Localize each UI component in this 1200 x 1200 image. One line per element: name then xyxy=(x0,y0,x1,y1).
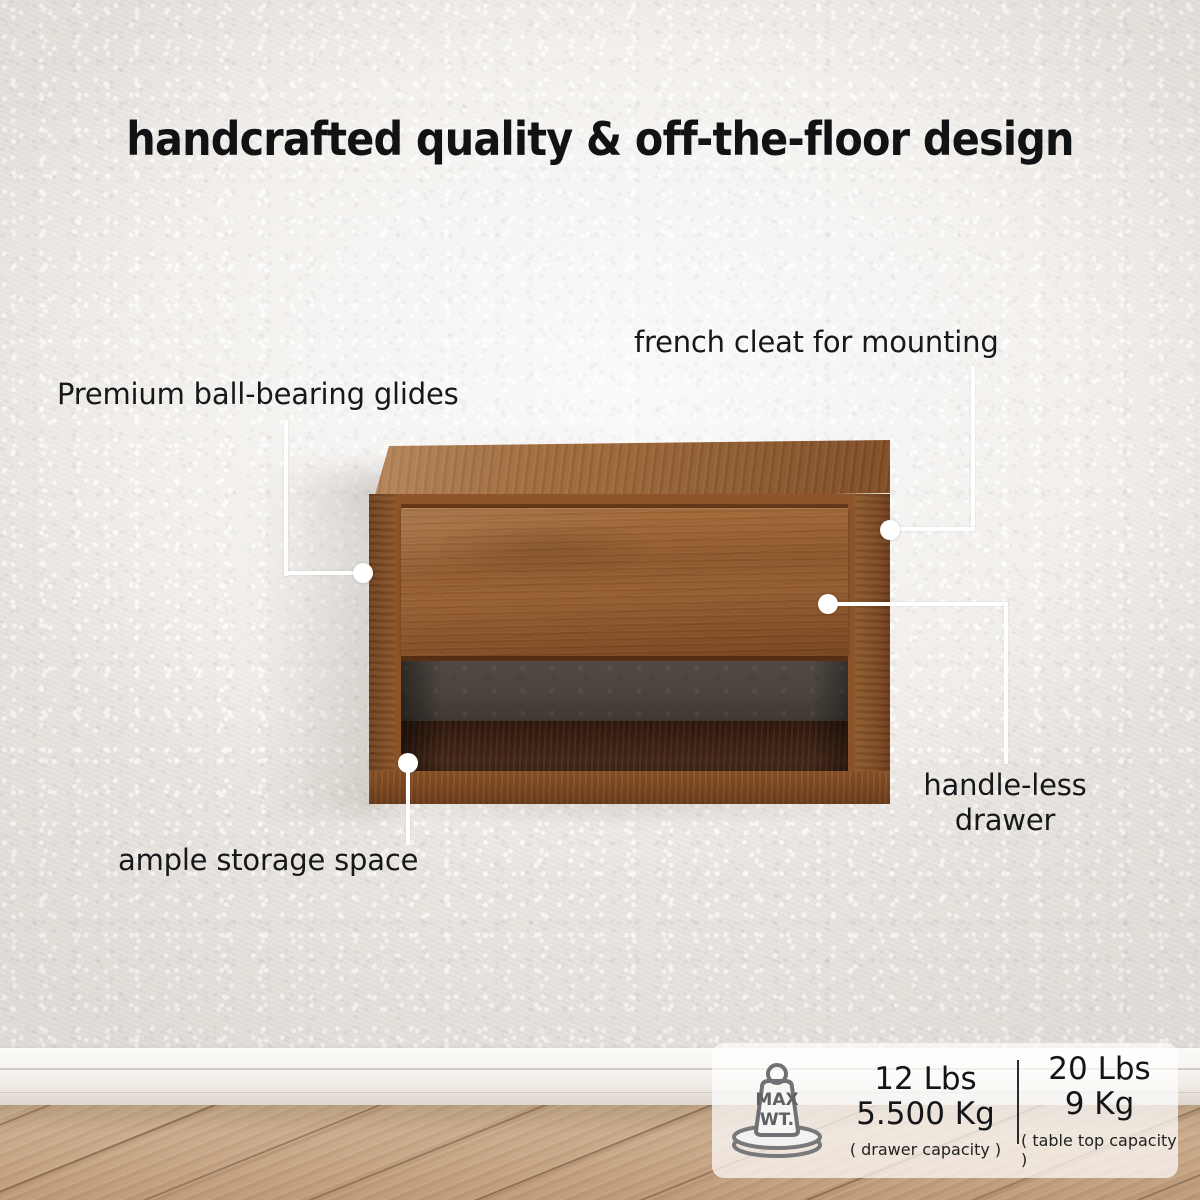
capacity-column-table-top: 20 Lbs 9 Kg ( table top capacity ) xyxy=(1021,1052,1178,1170)
drawer-front[interactable] xyxy=(401,508,848,656)
callout-label-ample-storage: ample storage space xyxy=(118,843,418,878)
callout-label-french-cleat: french cleat for mounting xyxy=(634,325,999,360)
nightstand-bottom-rail xyxy=(369,771,890,804)
drawer-capacity-note: ( drawer capacity ) xyxy=(850,1140,1001,1159)
capacity-column-drawer: 12 Lbs 5.500 Kg ( drawer capacity ) xyxy=(836,1052,1015,1170)
table-top-capacity-lbs: 20 Lbs xyxy=(1048,1052,1150,1087)
top-sheen xyxy=(355,440,890,502)
page-title: handcrafted quality & off-the-floor desi… xyxy=(0,112,1200,166)
table-top-capacity-note: ( table top capacity ) xyxy=(1021,1131,1178,1169)
capacity-columns: 12 Lbs 5.500 Kg ( drawer capacity ) 20 L… xyxy=(836,1052,1178,1170)
callout-dot-ball-bearing-glides[interactable] xyxy=(353,563,373,583)
max-weight-icon: MAX WT. xyxy=(712,1061,836,1161)
drawer-capacity-kg: 5.500 Kg xyxy=(856,1097,995,1132)
callout-dot-handle-less-drawer[interactable] xyxy=(818,594,838,614)
callout-dot-french-cleat[interactable] xyxy=(880,520,900,540)
nightstand-top-surface xyxy=(355,440,890,502)
callout-line-french-cleat-vertical xyxy=(971,366,975,530)
callout-label-handle-less-drawer: handle-less drawer xyxy=(880,768,1130,839)
cavity-shadow-right xyxy=(812,661,848,771)
callout-label-ball-bearing-glides: Premium ball-bearing glides xyxy=(57,377,459,412)
callout-line-french-cleat-horizontal xyxy=(895,527,975,531)
callout-line-ball-bearing-vertical xyxy=(284,420,288,576)
nightstand-left-panel xyxy=(369,494,395,804)
callout-line-ample-storage-vertical xyxy=(406,770,410,845)
max-weight-icon-line2: WT. xyxy=(760,1110,794,1130)
callout-line-handle-less-vertical xyxy=(1004,602,1008,764)
infographic-canvas: handcrafted quality & off-the-floor desi… xyxy=(0,0,1200,1200)
max-weight-panel: MAX WT. 12 Lbs 5.500 Kg ( drawer capacit… xyxy=(712,1043,1178,1178)
callout-line-handle-less-horizontal xyxy=(836,602,1008,606)
open-shelf-cavity xyxy=(401,661,848,771)
max-weight-icon-line1: MAX xyxy=(755,1090,798,1110)
table-top-capacity-kg: 9 Kg xyxy=(1065,1087,1135,1122)
cavity-shelf-grain xyxy=(401,721,848,771)
nightstand-right-panel xyxy=(855,494,890,804)
drawer-sheen xyxy=(401,508,848,656)
capacity-divider xyxy=(1017,1060,1019,1144)
drawer-capacity-lbs: 12 Lbs xyxy=(874,1062,976,1097)
floating-nightstand xyxy=(355,440,890,815)
cavity-back-texture xyxy=(401,661,848,723)
